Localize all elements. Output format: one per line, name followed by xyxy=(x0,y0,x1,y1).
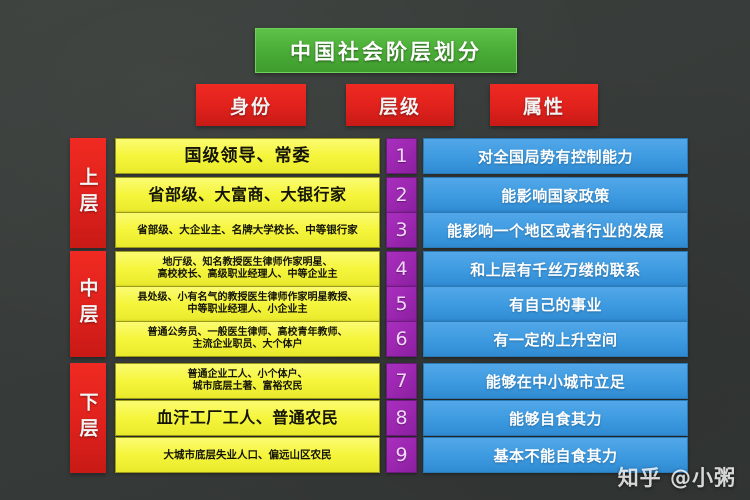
column-header-level: 层级 xyxy=(346,84,454,126)
level-number-text: 9 xyxy=(395,444,407,466)
level-number-text: 4 xyxy=(395,258,407,280)
level-number-text: 1 xyxy=(395,145,407,167)
level-number-cell: 8 xyxy=(386,400,417,436)
identity-text: 地厅级、知名教授医生律师作家明星、高校校长、高级职业经理人、中等企业主 xyxy=(154,257,342,281)
table-row: 普通公务员、一般医生律师、高校青年教师、主流企业职员、大个体户 6 有一定的上升… xyxy=(0,321,750,357)
attribute-text: 和上层有千丝万缕的联系 xyxy=(470,259,641,280)
attribute-cell: 对全国局势有控制能力 xyxy=(423,138,688,174)
identity-cell: 省部级、大企业主、名牌大学校长、中等银行家 xyxy=(115,212,380,248)
level-number-text: 3 xyxy=(395,219,407,241)
identity-text: 国级领导、常委 xyxy=(181,146,315,167)
attribute-cell: 能影响一个地区或者行业的发展 xyxy=(423,212,688,248)
identity-cell: 血汗工厂工人、普通农民 xyxy=(115,400,380,436)
level-number-cell: 9 xyxy=(386,437,417,473)
table-row: 省部级、大富商、大银行家 2 能影响国家政策 xyxy=(0,177,750,213)
identity-cell: 县处级、小有名气的教授医生律师作家明星教授、中等职业经理人、小企业主 xyxy=(115,286,380,322)
level-number-cell: 7 xyxy=(386,363,417,399)
identity-cell: 省部级、大富商、大银行家 xyxy=(115,177,380,213)
identity-text: 普通企业工人、小个体户、城市底层土著、富裕农民 xyxy=(184,369,312,393)
identity-text: 省部级、大企业主、名牌大学校长、中等银行家 xyxy=(133,224,362,237)
level-number-text: 5 xyxy=(395,293,407,315)
identity-cell: 地厅级、知名教授医生律师作家明星、高校校长、高级职业经理人、中等企业主 xyxy=(115,251,380,287)
column-header-level-label: 层级 xyxy=(379,92,421,119)
identity-cell: 普通企业工人、小个体户、城市底层土著、富裕农民 xyxy=(115,363,380,399)
attribute-text: 基本不能自食其力 xyxy=(493,445,617,466)
attribute-cell: 能影响国家政策 xyxy=(423,177,688,213)
level-number-cell: 3 xyxy=(386,212,417,248)
watermark: 知乎 @小粥 xyxy=(618,462,736,492)
table-row: 普通企业工人、小个体户、城市底层土著、富裕农民 7 能够在中小城市立足 xyxy=(0,363,750,399)
identity-cell: 大城市底层失业人口、偏远山区农民 xyxy=(115,437,380,473)
identity-text: 大城市底层失业人口、偏远山区农民 xyxy=(160,449,336,462)
level-number-cell: 4 xyxy=(386,251,417,287)
attribute-cell: 有自己的事业 xyxy=(423,286,688,322)
attribute-cell: 能够自食其力 xyxy=(423,400,688,436)
page-title: 中国社会阶层划分 xyxy=(290,36,482,66)
column-header-attribute: 属性 xyxy=(490,84,598,126)
level-number-text: 8 xyxy=(395,407,407,429)
level-number-text: 2 xyxy=(395,184,407,206)
attribute-cell: 有一定的上升空间 xyxy=(423,321,688,357)
attribute-text: 对全国局势有控制能力 xyxy=(478,146,633,167)
level-number-text: 6 xyxy=(395,328,407,350)
level-number-cell: 1 xyxy=(386,138,417,174)
level-number-cell: 2 xyxy=(386,177,417,213)
level-number-cell: 5 xyxy=(386,286,417,322)
identity-text: 省部级、大富商、大银行家 xyxy=(144,185,350,205)
level-number-cell: 6 xyxy=(386,321,417,357)
identity-text: 血汗工厂工人、普通农民 xyxy=(153,408,343,428)
table-row: 国级领导、常委 1 对全国局势有控制能力 xyxy=(0,138,750,174)
table-row: 血汗工厂工人、普通农民 8 能够自食其力 xyxy=(0,400,750,436)
infographic-canvas: 中国社会阶层划分 身份 层级 属性 上层 中层 下层 国级领导、常委 1 对全国… xyxy=(0,0,750,500)
column-header-identity-label: 身份 xyxy=(230,92,272,119)
attribute-text: 能影响一个地区或者行业的发展 xyxy=(447,220,664,241)
attribute-text: 能够在中小城市立足 xyxy=(486,371,626,392)
table-row: 县处级、小有名气的教授医生律师作家明星教授、中等职业经理人、小企业主 5 有自己… xyxy=(0,286,750,322)
table-row: 地厅级、知名教授医生律师作家明星、高校校长、高级职业经理人、中等企业主 4 和上… xyxy=(0,251,750,287)
identity-cell: 国级领导、常委 xyxy=(115,138,380,174)
attribute-cell: 和上层有千丝万缕的联系 xyxy=(423,251,688,287)
table-row: 省部级、大企业主、名牌大学校长、中等银行家 3 能影响一个地区或者行业的发展 xyxy=(0,212,750,248)
attribute-text: 有自己的事业 xyxy=(509,294,602,315)
title-banner: 中国社会阶层划分 xyxy=(255,28,517,73)
column-header-attribute-label: 属性 xyxy=(523,92,565,119)
identity-cell: 普通公务员、一般医生律师、高校青年教师、主流企业职员、大个体户 xyxy=(115,321,380,357)
attribute-cell: 能够在中小城市立足 xyxy=(423,363,688,399)
attribute-text: 能够自食其力 xyxy=(509,408,602,429)
attribute-text: 有一定的上升空间 xyxy=(493,329,617,350)
identity-text: 普通公务员、一般医生律师、高校青年教师、主流企业职员、大个体户 xyxy=(144,327,352,351)
level-number-text: 7 xyxy=(395,370,407,392)
column-header-identity: 身份 xyxy=(196,84,306,126)
attribute-text: 能影响国家政策 xyxy=(501,185,610,206)
identity-text: 县处级、小有名气的教授医生律师作家明星教授、中等职业经理人、小企业主 xyxy=(134,292,362,316)
